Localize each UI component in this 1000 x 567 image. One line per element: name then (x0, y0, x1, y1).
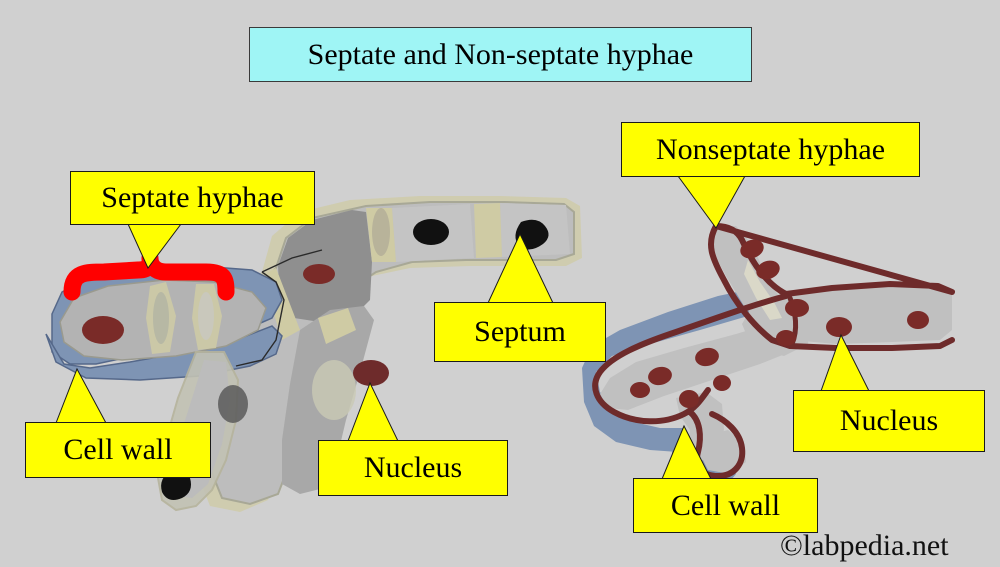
label-septate-hyphae-text: Septate hyphae (101, 183, 283, 213)
label-nucleus-left[interactable]: Nucleus (318, 440, 508, 496)
septum-1-pore (372, 208, 390, 256)
label-nucleus-left-text: Nucleus (364, 453, 462, 483)
nucleus-oval (630, 382, 650, 398)
label-cell-wall-left[interactable]: Cell wall (25, 422, 211, 478)
nucleus-oval (679, 390, 699, 408)
nucleus-oval (776, 330, 796, 346)
septum-left-a-pore (153, 292, 169, 344)
label-septum[interactable]: Septum (434, 302, 606, 362)
nucleus-oval (303, 264, 335, 284)
label-nonseptate-hyphae[interactable]: Nonseptate hyphae (621, 122, 920, 177)
label-septate-hyphae[interactable]: Septate hyphae (70, 171, 315, 225)
nucleus-oval (353, 360, 389, 386)
nucleus-oval (413, 219, 449, 245)
nucleus-oval (907, 311, 929, 329)
nucleus-oval (713, 375, 731, 391)
label-nucleus-right[interactable]: Nucleus (793, 390, 985, 452)
label-nonseptate-hyphae-text: Nonseptate hyphae (656, 135, 885, 165)
septum-2 (474, 203, 502, 258)
label-septum-text: Septum (474, 317, 566, 347)
nucleus-oval (826, 317, 852, 337)
nucleus-oval (785, 299, 809, 317)
nucleus-oval (218, 385, 248, 423)
label-cell-wall-right-text: Cell wall (671, 491, 780, 521)
diagram-canvas: Septate and Non-septate hyphae Septate h… (0, 0, 1000, 567)
septum-4-pore (312, 360, 356, 420)
label-cell-wall-left-text: Cell wall (63, 435, 172, 465)
label-cell-wall-right[interactable]: Cell wall (633, 478, 818, 533)
tail-nucleus-right (821, 335, 869, 391)
label-nucleus-right-text: Nucleus (840, 406, 938, 436)
nucleus-oval (82, 316, 124, 344)
diagram-title: Septate and Non-septate hyphae (249, 27, 752, 82)
watermark-text: ©labpedia.net (780, 529, 949, 562)
tail-nonseptate-hyphae (678, 176, 745, 228)
diagram-title-text: Septate and Non-septate hyphae (308, 38, 694, 72)
septum-left-b-pore (198, 292, 214, 340)
watermark: ©labpedia.net (780, 529, 949, 563)
